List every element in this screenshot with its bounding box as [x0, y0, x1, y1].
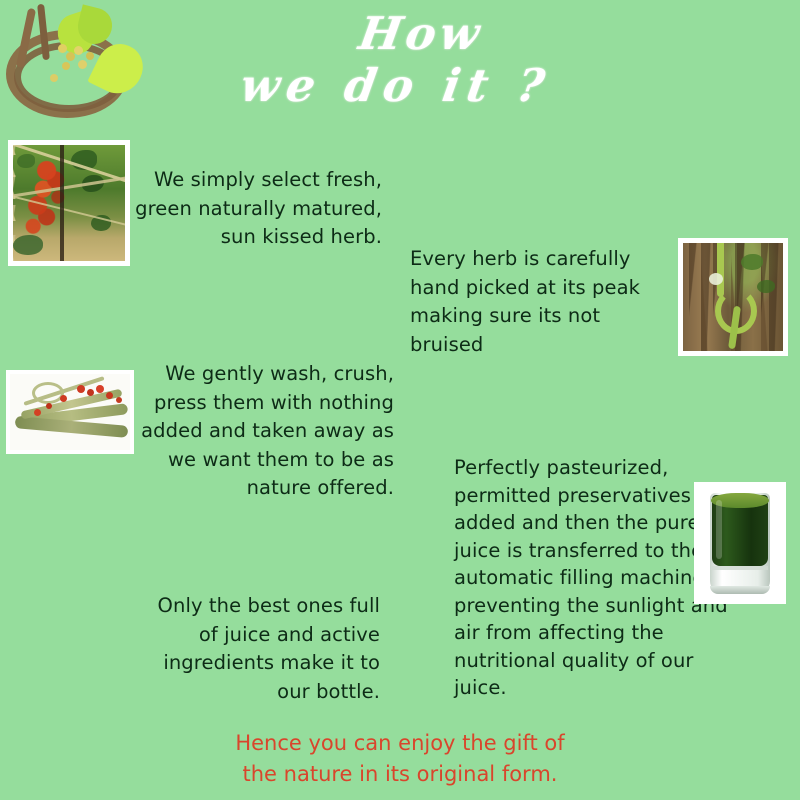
photo-stems	[6, 370, 134, 454]
poster-canvas: How we do it ? We simply select fresh, g…	[0, 0, 800, 800]
photo-vine-trunk	[678, 238, 788, 356]
photo-berry-vine-image	[13, 145, 125, 261]
step-handpick-text: Every herb is carefully hand picked at i…	[410, 245, 660, 359]
photo-juice	[694, 482, 786, 604]
step-bottle-text: Only the best ones full of juice and act…	[132, 592, 380, 706]
tagline: Hence you can enjoy the gift of the natu…	[0, 728, 800, 790]
photo-vine-trunk-image	[683, 243, 783, 351]
photo-stems-image	[10, 374, 130, 450]
photo-juice-image	[698, 486, 782, 600]
photo-berry-vine	[8, 140, 130, 266]
step-wash-crush-press-text: We gently wash, crush, press them with n…	[132, 360, 394, 503]
step-select-text: We simply select fresh, green naturally …	[120, 166, 382, 252]
